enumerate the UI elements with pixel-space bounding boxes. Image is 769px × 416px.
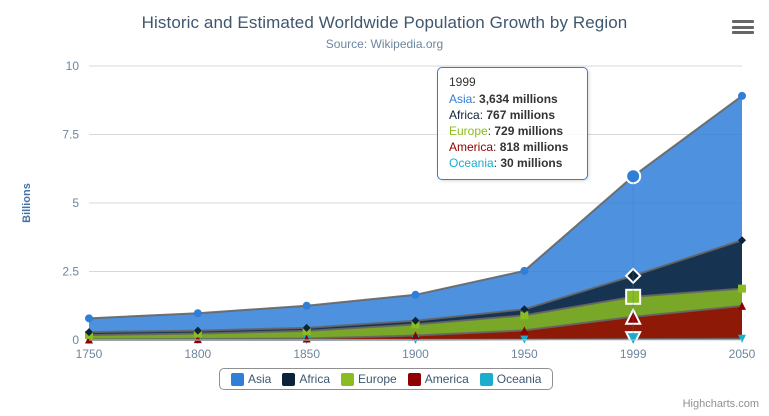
y-axis-tick-label: 7.5 [62, 128, 79, 142]
tooltip-series-name: Oceania [449, 156, 494, 170]
tooltip-row-america: America: 818 millions [449, 139, 578, 155]
y-axis-title: Billions [21, 183, 33, 223]
y-axis-tick-label: 0 [72, 333, 79, 347]
legend-item-europe[interactable]: Europe [338, 372, 400, 386]
tooltip-row-africa: Africa: 767 millions [449, 107, 578, 123]
tooltip-series-value: 767 millions [486, 108, 555, 122]
y-axis-tick-label: 2.5 [62, 265, 79, 279]
tooltip-series-value: 729 millions [494, 124, 563, 138]
y-axis-tick-label: 5 [72, 196, 79, 210]
legend-item-asia[interactable]: Asia [228, 372, 274, 386]
tooltip-separator: : [493, 140, 500, 154]
x-axis-tick-label: 1999 [620, 347, 647, 361]
tooltip: 1999 Asia: 3,634 millionsAfrica: 767 mil… [437, 67, 588, 180]
legend-swatch-icon [231, 373, 244, 386]
x-axis-tick-label: 1950 [511, 347, 538, 361]
legend-label: Africa [299, 372, 330, 386]
legend-item-africa[interactable]: Africa [279, 372, 333, 386]
legend-item-america[interactable]: America [405, 372, 472, 386]
marker-asia-1750[interactable] [85, 314, 93, 322]
legend-swatch-icon [408, 373, 421, 386]
tooltip-series-name: Africa [449, 108, 480, 122]
tooltip-header: 1999 [449, 75, 578, 89]
tooltip-row-europe: Europe: 729 millions [449, 123, 578, 139]
tooltip-series-value: 3,634 millions [479, 92, 558, 106]
legend-label: Europe [358, 372, 397, 386]
marker-asia-1850[interactable] [303, 302, 311, 310]
legend-swatch-icon [341, 373, 354, 386]
tooltip-series-name: Asia [449, 92, 472, 106]
tooltip-series-value: 30 millions [500, 156, 562, 170]
highcharts-container: Historic and Estimated Worldwide Populat… [0, 0, 769, 416]
legend-swatch-icon [480, 373, 493, 386]
plot-area: 02.557.510Billions1750180018501900195019… [0, 0, 769, 416]
x-axis-tick-label: 1800 [184, 347, 211, 361]
legend-item-oceania[interactable]: Oceania [477, 372, 545, 386]
x-axis-tick-label: 1900 [402, 347, 429, 361]
legend-label: Oceania [497, 372, 542, 386]
legend-label: Asia [248, 372, 271, 386]
tooltip-series-name: Europe [449, 124, 488, 138]
tooltip-series-value: 818 millions [500, 140, 569, 154]
legend-label: America [425, 372, 469, 386]
credits-link[interactable]: Highcharts.com [683, 398, 759, 410]
tooltip-row-asia: Asia: 3,634 millions [449, 91, 578, 107]
x-axis-tick-label: 1750 [76, 347, 103, 361]
marker-asia-1950[interactable] [520, 267, 528, 275]
marker-asia-1900[interactable] [412, 291, 420, 299]
y-axis-tick-label: 10 [66, 59, 80, 73]
tooltip-rows: Asia: 3,634 millionsAfrica: 767 millions… [449, 91, 578, 171]
marker-asia-1800[interactable] [194, 309, 202, 317]
marker-europe-2050[interactable] [738, 285, 746, 293]
tooltip-series-name: America [449, 140, 493, 154]
tooltip-separator: : [472, 92, 479, 106]
x-axis-tick-label: 2050 [729, 347, 756, 361]
marker-asia-2050[interactable] [738, 92, 746, 100]
legend: AsiaAfricaEuropeAmericaOceania [219, 368, 553, 390]
legend-swatch-icon [282, 373, 295, 386]
tooltip-row-oceania: Oceania: 30 millions [449, 155, 578, 171]
x-axis-tick-label: 1850 [293, 347, 320, 361]
